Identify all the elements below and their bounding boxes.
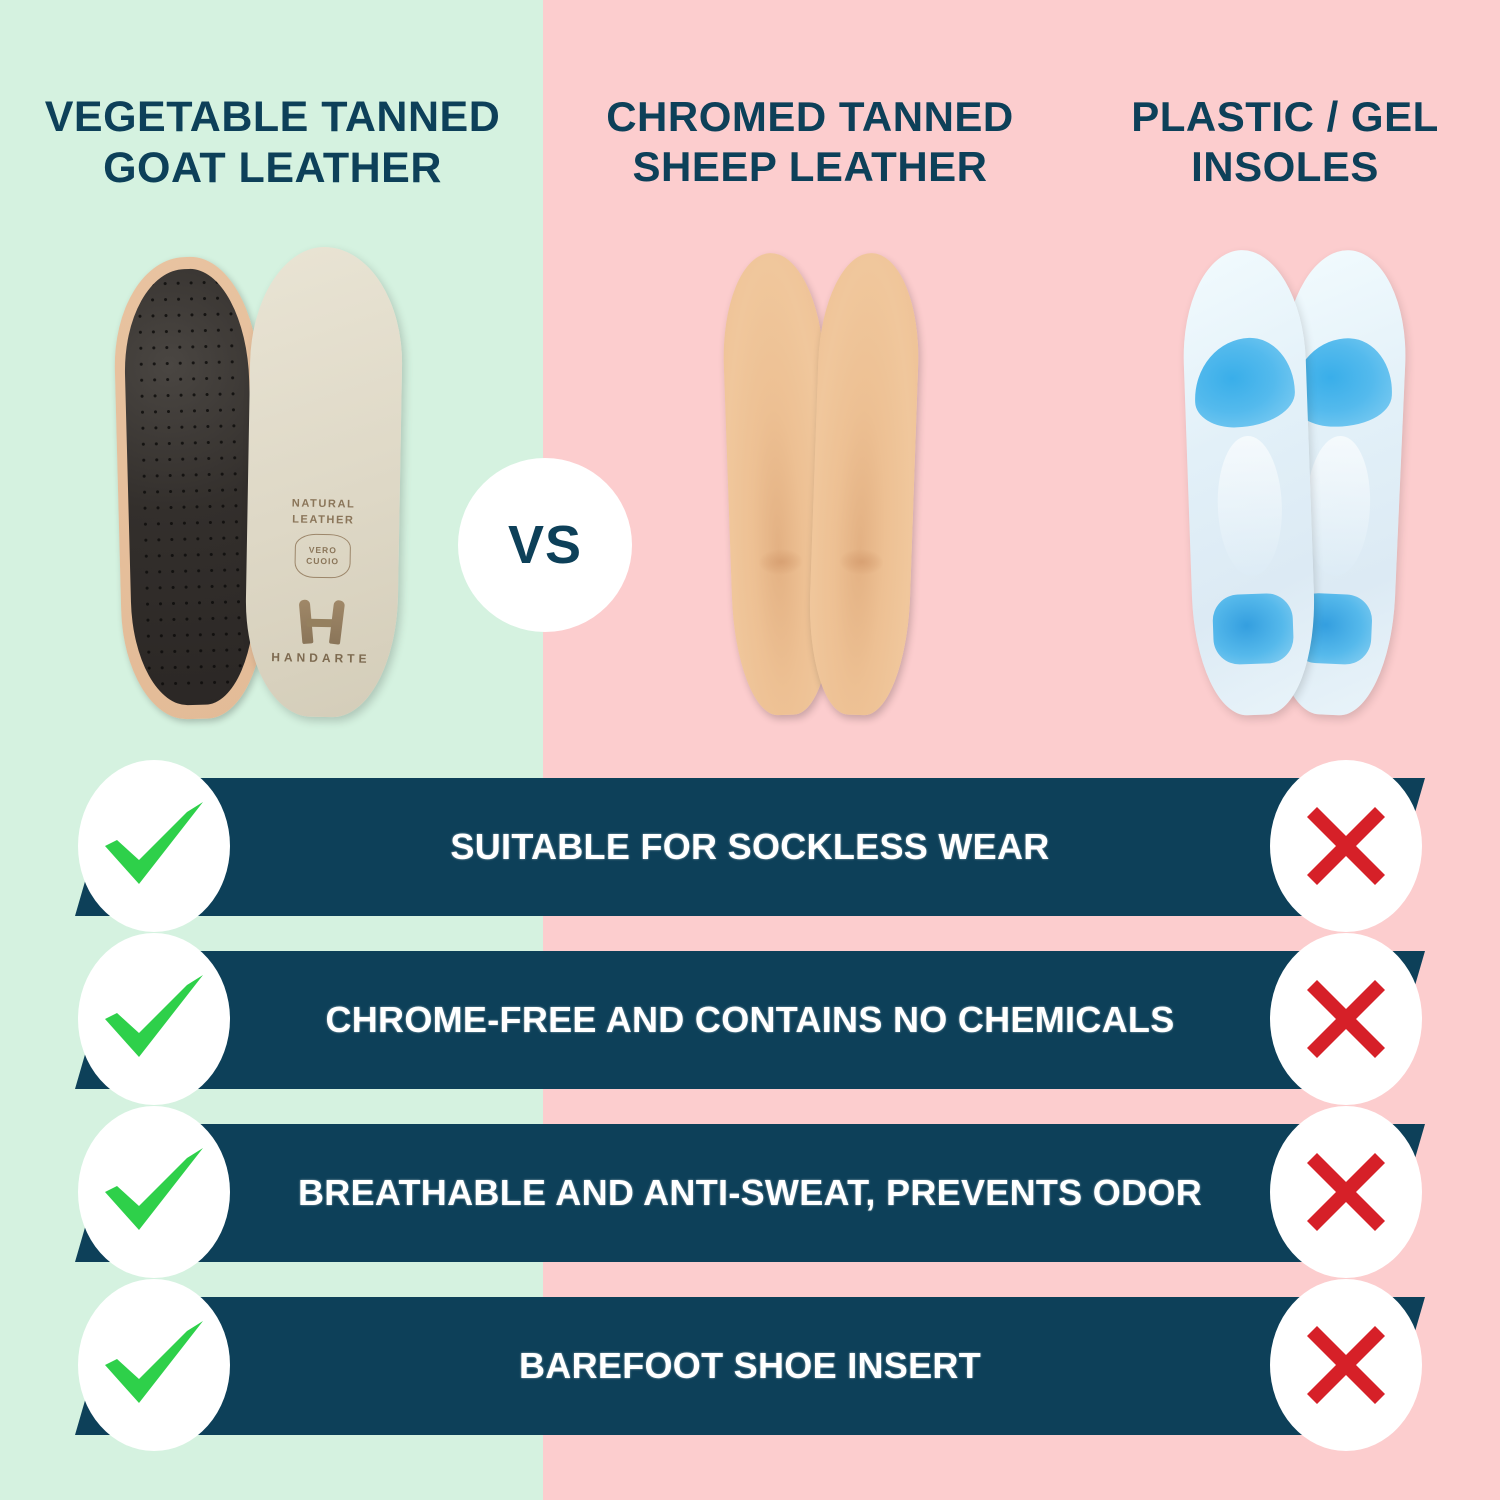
- right-verdict-badge-cross: [1270, 1279, 1422, 1451]
- feature-banner: CHROME-FREE AND CONTAINS NO CHEMICALS: [75, 951, 1425, 1089]
- feature-banner: BAREFOOT SHOE INSERT: [75, 1297, 1425, 1435]
- versus-label: VS: [508, 514, 582, 576]
- feature-banner: SUITABLE FOR SOCKLESS WEAR: [75, 778, 1425, 916]
- cross-icon: [1303, 976, 1389, 1062]
- feature-label: BAREFOOT SHOE INSERT: [75, 1297, 1425, 1435]
- feature-row: CHROME-FREE AND CONTAINS NO CHEMICALS: [0, 933, 1500, 1113]
- left-verdict-badge-check: [78, 760, 230, 932]
- gel-heel-pad: [1211, 593, 1294, 666]
- cross-icon: [1303, 1149, 1389, 1235]
- cross-icon: [1303, 1322, 1389, 1408]
- check-icon: [99, 1144, 209, 1240]
- gel-arch-highlight: [1216, 435, 1284, 577]
- feature-banner: BREATHABLE AND ANTI-SWEAT, PREVENTS ODOR: [75, 1124, 1425, 1262]
- check-icon: [99, 1317, 209, 1413]
- check-icon: [99, 798, 209, 894]
- gel-insole-pair: [1188, 250, 1403, 720]
- right-verdict-badge-cross: [1270, 1106, 1422, 1278]
- gel-insole-left: [1180, 248, 1318, 717]
- check-icon: [99, 971, 209, 1067]
- left-verdict-badge-check: [78, 1279, 230, 1451]
- feature-label: BREATHABLE AND ANTI-SWEAT, PREVENTS ODOR: [75, 1124, 1425, 1262]
- feature-row: BREATHABLE AND ANTI-SWEAT, PREVENTS ODOR: [0, 1106, 1500, 1286]
- versus-badge: VS: [458, 458, 632, 632]
- right-verdict-badge-cross: [1270, 760, 1422, 932]
- feature-row: SUITABLE FOR SOCKLESS WEAR: [0, 760, 1500, 940]
- feature-row: BAREFOOT SHOE INSERT: [0, 1279, 1500, 1459]
- infographic-stage: VEGETABLE TANNED GOAT LEATHER CHROMED TA…: [0, 0, 1500, 1500]
- feature-rows: SUITABLE FOR SOCKLESS WEAR CHROME-FREE A…: [0, 0, 1500, 1500]
- cross-icon: [1303, 803, 1389, 889]
- gel-arch-highlight: [1303, 435, 1372, 577]
- right-verdict-badge-cross: [1270, 933, 1422, 1105]
- left-verdict-badge-check: [78, 933, 230, 1105]
- feature-label: CHROME-FREE AND CONTAINS NO CHEMICALS: [75, 951, 1425, 1089]
- left-verdict-badge-check: [78, 1106, 230, 1278]
- feature-label: SUITABLE FOR SOCKLESS WEAR: [75, 778, 1425, 916]
- gel-forefoot-pad: [1193, 337, 1296, 429]
